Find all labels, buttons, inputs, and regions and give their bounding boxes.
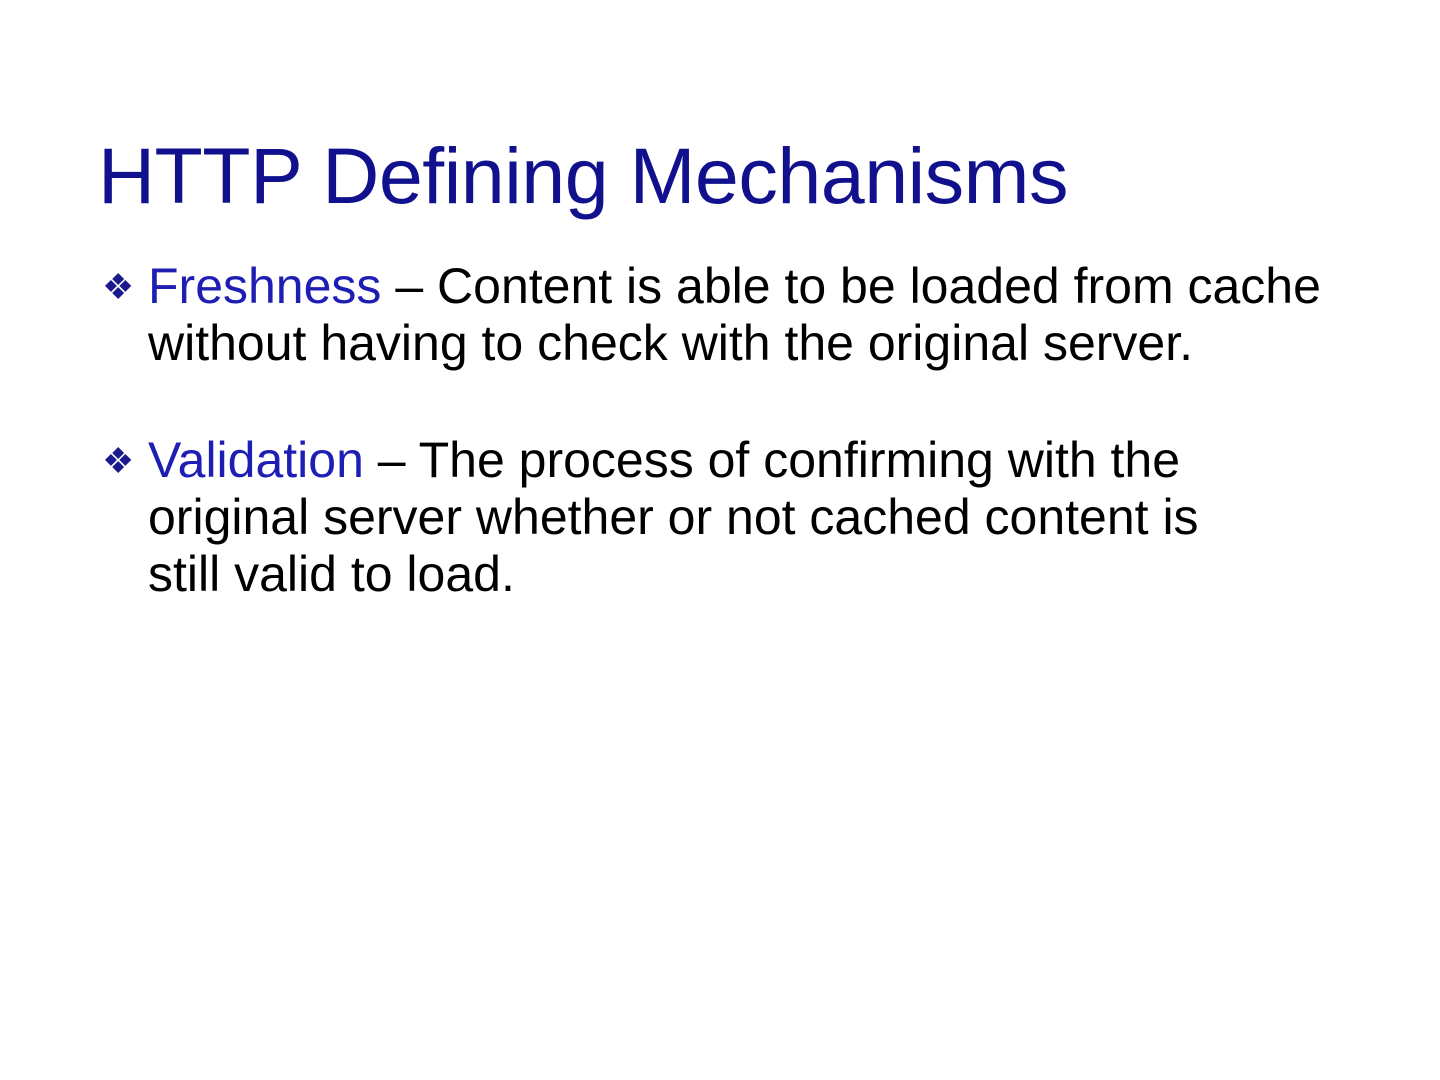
bullet-separator-validation: – [364, 432, 419, 488]
bullet-separator-freshness: – [381, 258, 437, 314]
four-diamond-bullet-icon: ❖ [102, 258, 138, 315]
four-diamond-bullet-icon: ❖ [102, 432, 138, 489]
bullet-item-validation: ❖ Validation – The process of confirming… [100, 432, 1330, 603]
presentation-slide: HTTP Defining Mechanisms ❖ Freshness – C… [0, 0, 1440, 1080]
bullet-text-freshness: Freshness – Content is able to be loaded… [148, 258, 1330, 372]
slide-body-bullet-list: ❖ Freshness – Content is able to be load… [100, 258, 1330, 603]
bullet-item-freshness: ❖ Freshness – Content is able to be load… [100, 258, 1330, 372]
bullet-text-validation: Validation – The process of confirming w… [148, 432, 1253, 603]
bullet-keyword-freshness: Freshness [148, 258, 381, 314]
bullet-keyword-validation: Validation [148, 432, 364, 488]
slide-title: HTTP Defining Mechanisms [98, 133, 1358, 219]
